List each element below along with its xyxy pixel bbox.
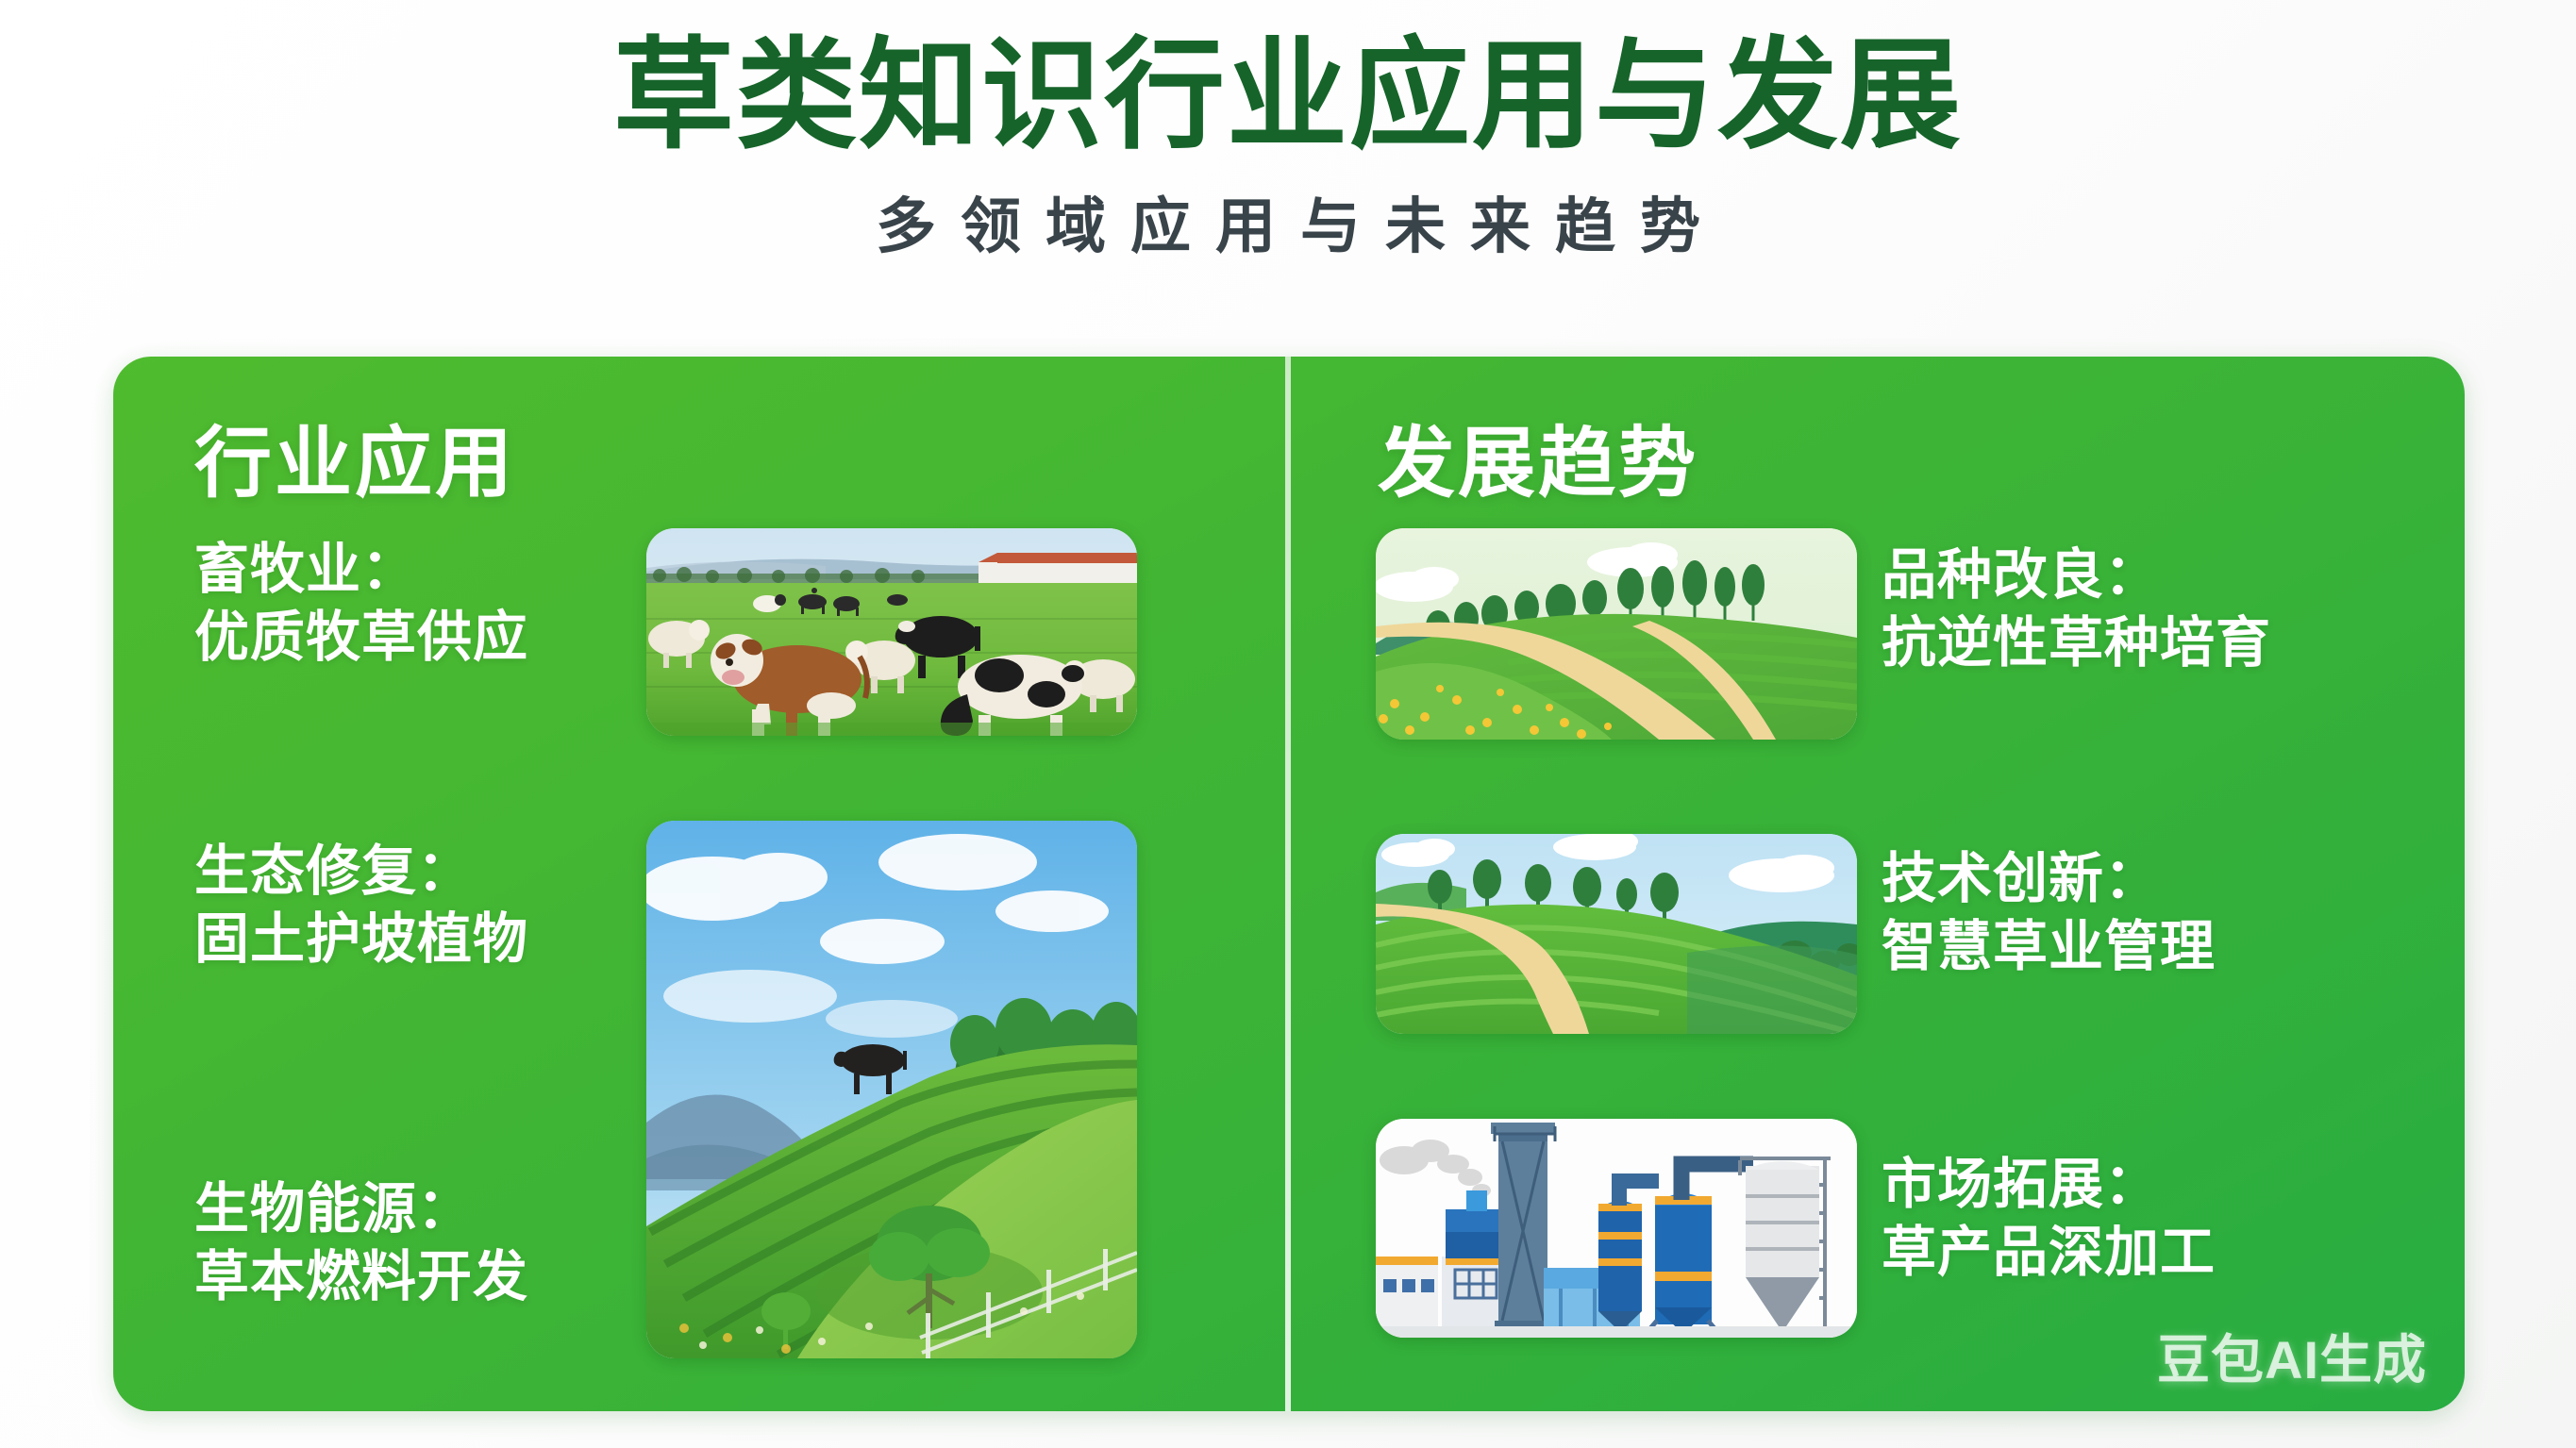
flower-field-illustration [1376,528,1857,740]
list-item-bioenergy: 生物能源： 草本燃料开发 [194,1175,528,1311]
item-label: 生态修复： [194,838,528,906]
ai-watermark: 豆包AI生成 [2157,1318,2427,1394]
item-detail: 智慧草业管理 [1882,913,2216,981]
list-item-livestock: 畜牧业： 优质牧草供应 [194,536,528,672]
panel-divider [1285,357,1291,1411]
list-item-ecological-restoration: 生态修复： 固土护坡植物 [194,838,528,974]
panel-right-heading: 发展趋势 [1378,400,1698,512]
header: 草类知识行业应用与发展 多领域应用与未来趋势 [0,26,2576,265]
infographic-canvas: 草类知识行业应用与发展 多领域应用与未来趋势 行业应用 畜牧业： 优质牧草供应 … [0,0,2576,1448]
list-item-variety-improvement: 品种改良： 抗逆性草种培育 [1882,541,2271,677]
item-detail: 固土护坡植物 [194,906,528,974]
item-label: 生物能源： [194,1175,528,1243]
content-board: 行业应用 畜牧业： 优质牧草供应 生态修复： 固土护坡植物 生物能源： 草本燃料… [113,357,2465,1411]
panel-development-trends: 发展趋势 品种改良： 抗逆性草种培育 技术创新： 智慧草业管理 市场拓展： 草产… [1291,357,2465,1411]
item-label: 品种改良： [1882,541,2271,609]
list-item-tech-innovation: 技术创新： 智慧草业管理 [1882,845,2216,981]
page-subtitle: 多领域应用与未来趋势 [0,178,2576,265]
item-label: 技术创新： [1882,845,2216,913]
item-detail: 抗逆性草种培育 [1882,609,2271,677]
item-detail: 草产品深加工 [1882,1219,2216,1287]
panel-industry-applications: 行业应用 畜牧业： 优质牧草供应 生态修复： 固土护坡植物 生物能源： 草本燃料… [113,357,1285,1411]
item-detail: 草本燃料开发 [194,1243,528,1311]
list-item-market-expansion: 市场拓展： 草产品深加工 [1882,1151,2216,1287]
item-detail: 优质牧草供应 [194,604,528,672]
terraced-hillside-photo [646,821,1137,1358]
item-label: 畜牧业： [194,536,528,604]
panel-left-heading: 行业应用 [194,400,515,512]
grazing-pasture-photo [646,528,1137,736]
page-title: 草类知识行业应用与发展 [0,26,2576,165]
item-label: 市场拓展： [1882,1151,2216,1219]
processing-plant-illustration [1376,1119,1857,1338]
rolling-hills-illustration [1376,834,1857,1034]
